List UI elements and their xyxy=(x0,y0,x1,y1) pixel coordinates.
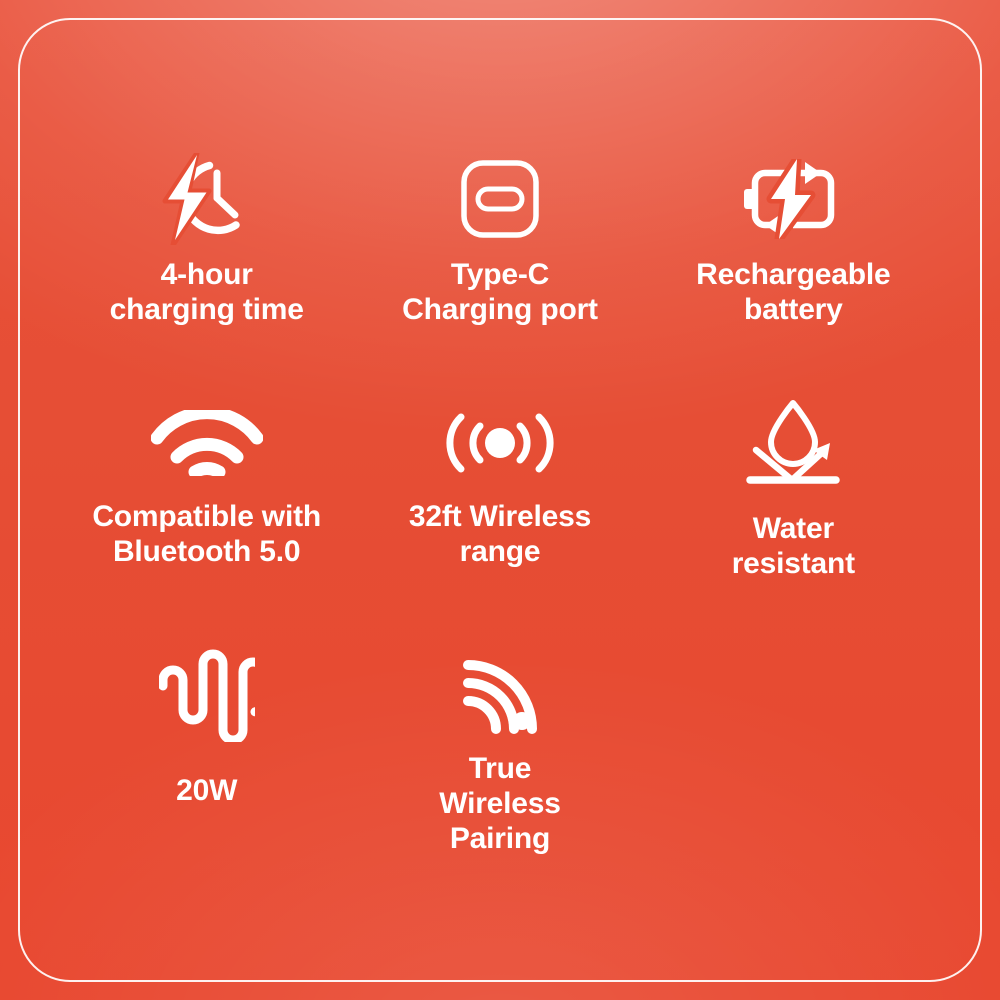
audio-waveform-icon xyxy=(159,642,255,746)
feature-label: 20W xyxy=(176,774,237,809)
feature-item-charging-time: 4-hour charging time xyxy=(60,150,353,396)
wireless-broadcast-icon xyxy=(444,396,556,490)
feature-label: Type-C Charging port xyxy=(402,258,598,328)
feature-item-wireless-range: 32ft Wireless range xyxy=(353,396,646,642)
true-wireless-pairing-icon xyxy=(452,642,548,746)
feature-item-power-output: 20W xyxy=(60,642,353,888)
rechargeable-battery-icon xyxy=(741,150,845,248)
feature-grid: 4-hour charging time Type-C Charging por… xyxy=(60,150,940,888)
water-resistant-droplet-icon xyxy=(742,396,844,490)
usb-type-c-port-icon xyxy=(460,150,540,248)
product-feature-card: 4-hour charging time Type-C Charging por… xyxy=(0,0,1000,1000)
feature-item-type-c-port: Type-C Charging port xyxy=(353,150,646,396)
feature-label: Rechargeable battery xyxy=(696,258,890,328)
feature-label: 32ft Wireless range xyxy=(409,500,591,570)
charging-time-bolt-clock-icon xyxy=(151,150,263,248)
feature-label: Compatible with Bluetooth 5.0 xyxy=(92,500,321,570)
feature-item-water-resistant: Water resistant xyxy=(647,396,940,642)
feature-item-rechargeable-battery: Rechargeable battery xyxy=(647,150,940,396)
bluetooth-signal-waves-icon xyxy=(151,396,263,490)
feature-label: Water resistant xyxy=(732,512,855,582)
feature-label: 4-hour charging time xyxy=(110,258,304,328)
feature-item-bluetooth: Compatible with Bluetooth 5.0 xyxy=(60,396,353,642)
feature-item-true-wireless-pairing: True Wireless Pairing xyxy=(353,642,646,888)
feature-label: True Wireless Pairing xyxy=(439,752,561,856)
